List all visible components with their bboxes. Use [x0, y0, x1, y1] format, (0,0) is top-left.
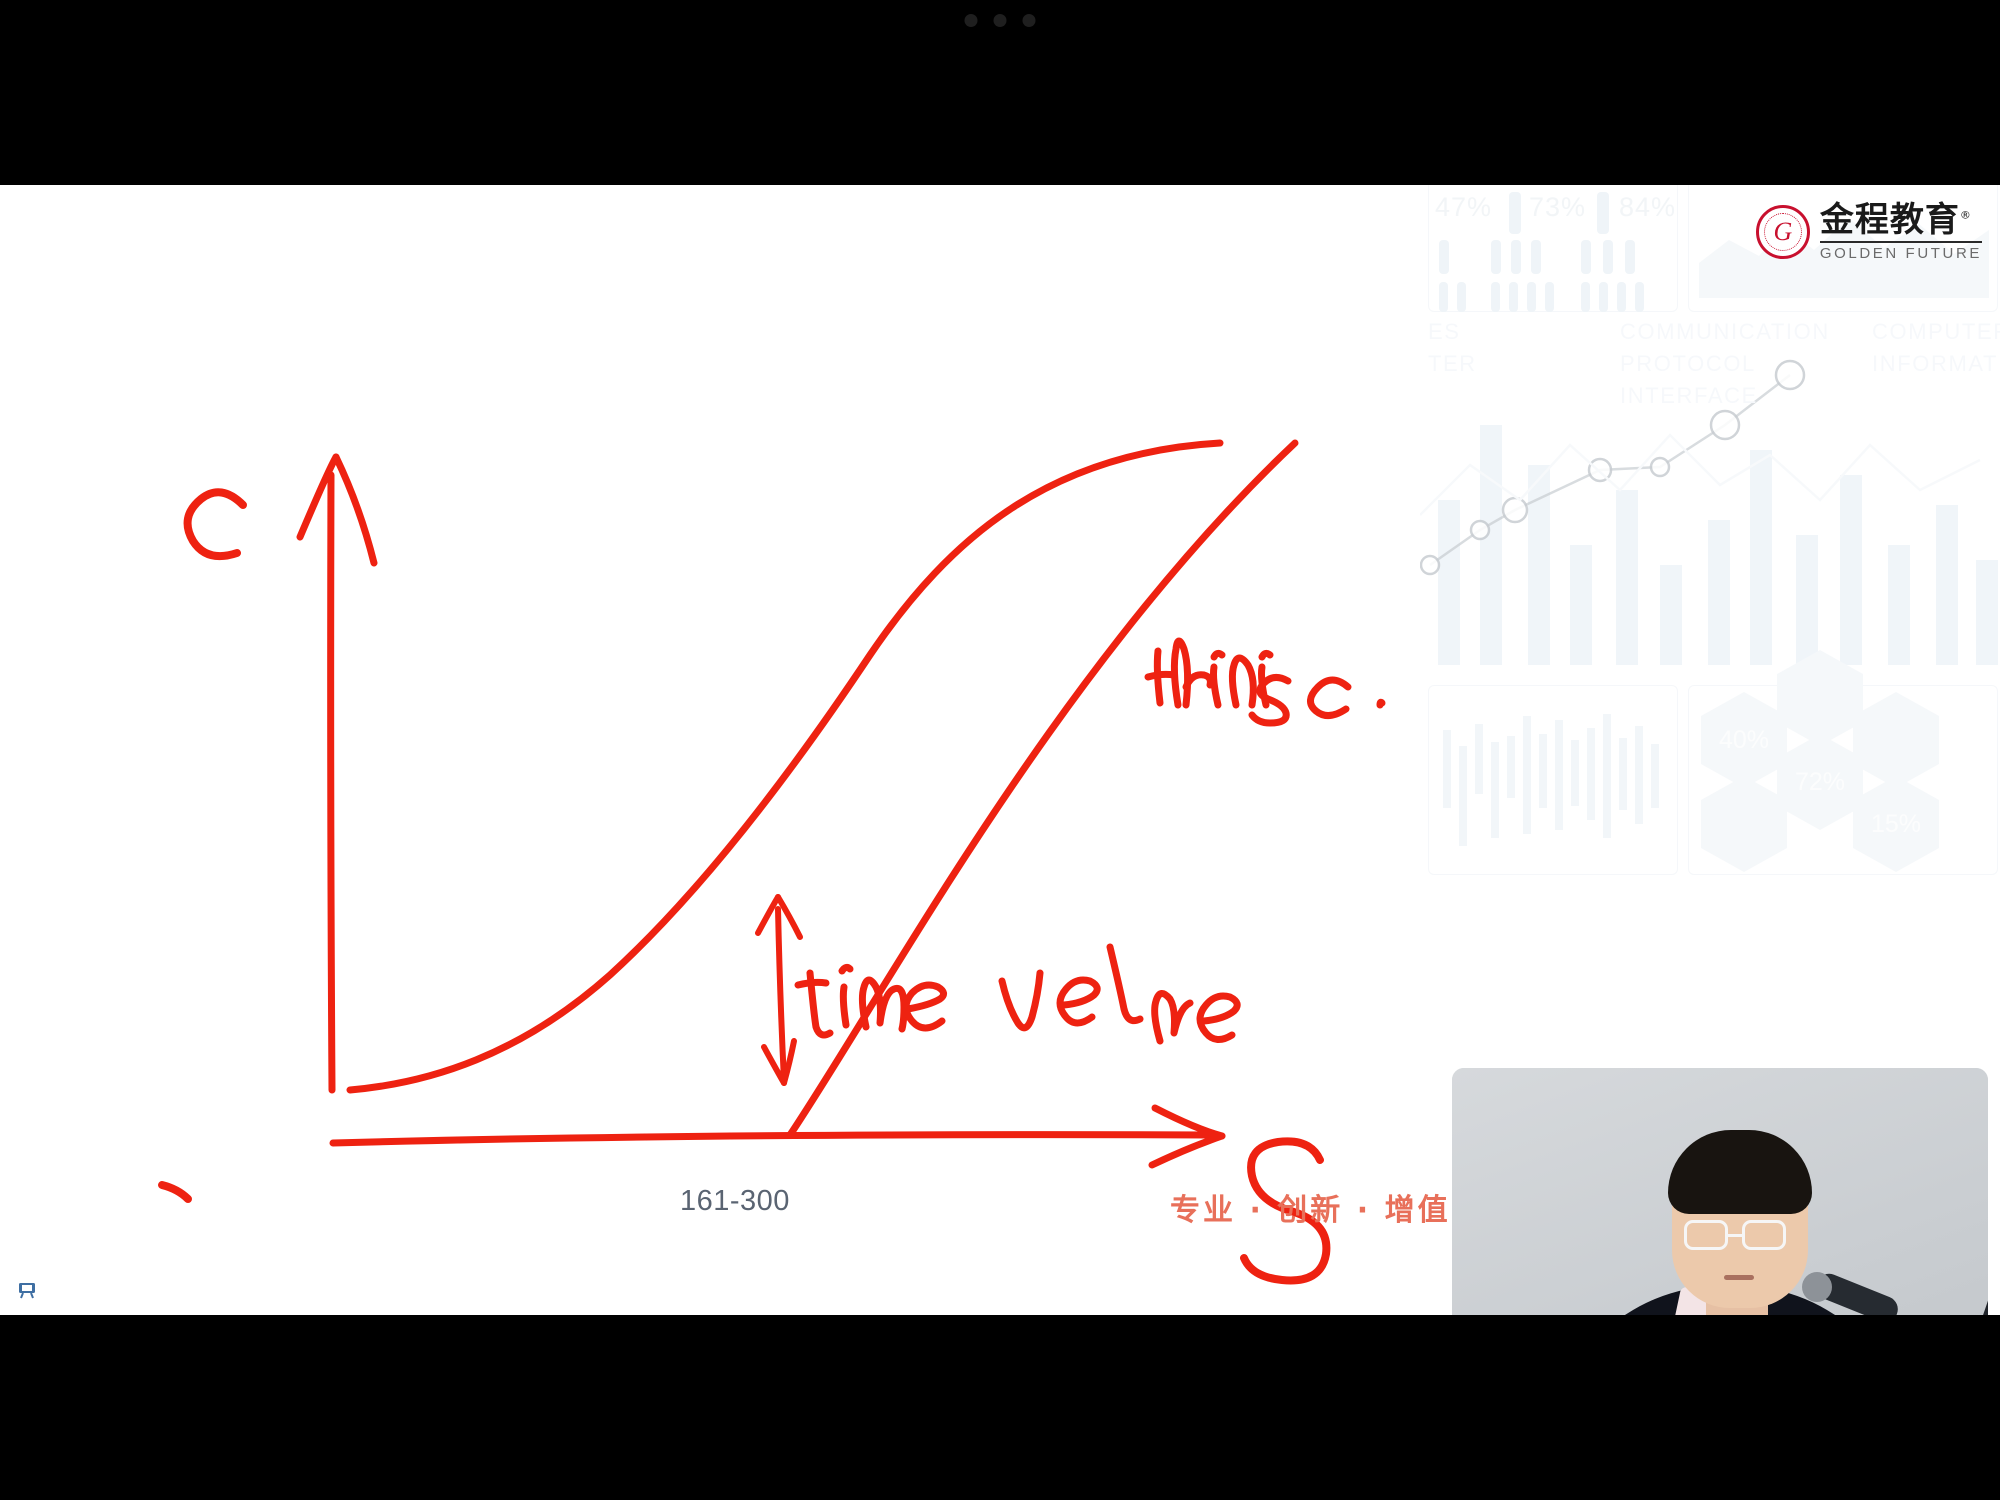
person-icon — [1599, 282, 1608, 312]
candle — [1539, 734, 1547, 808]
microphone-capsule — [1802, 1272, 1832, 1302]
hex-decor — [1701, 776, 1787, 872]
screen-recording-frame: 47% 73% 84% — [0, 0, 2000, 1500]
y-axis-label-c — [188, 492, 243, 556]
candle — [1635, 726, 1643, 824]
registered-mark: ® — [1960, 209, 1972, 222]
x-axis-stroke — [333, 1135, 1210, 1143]
infographic-keywords: ES TER COMMUNICATION PROTOCOL INTERFACE … — [1420, 315, 2000, 565]
person-icon — [1491, 240, 1501, 274]
person-icon — [1635, 282, 1644, 312]
brand-logo: G 金程教育® GOLDEN FUTURE — [1756, 203, 1982, 261]
person-icon — [1545, 282, 1554, 312]
candle — [1571, 740, 1579, 806]
person-icon — [1597, 192, 1609, 234]
candle — [1443, 730, 1451, 808]
keyword-5: COMPUTER — [1872, 319, 2000, 345]
window-dot-2 — [994, 14, 1007, 27]
intrinsic-handwriting — [1148, 641, 1382, 723]
person-icon — [1457, 282, 1466, 312]
person-icon — [1531, 240, 1541, 274]
seal-icon: G — [1756, 205, 1810, 259]
x-axis-arrow-bottom — [1152, 1136, 1222, 1165]
time-value-arrow — [758, 897, 800, 1083]
keyword-6: INFORMATION — [1872, 351, 2000, 377]
brand-name-cn: 金程教育® — [1820, 203, 1982, 237]
stray-ink-mark — [162, 1185, 188, 1199]
person-icon — [1439, 282, 1448, 312]
candle — [1651, 744, 1659, 808]
candle — [1523, 716, 1531, 834]
window-dot-1 — [965, 14, 978, 27]
glasses-right-lens — [1742, 1220, 1786, 1250]
infographic-candlestick-panel — [1428, 685, 1678, 875]
people-stat-1: 73% — [1529, 192, 1586, 223]
glasses-bridge — [1728, 1234, 1742, 1237]
candle — [1555, 720, 1563, 830]
person-icon — [1527, 282, 1536, 312]
presentation-slide: 47% 73% 84% — [0, 185, 2000, 1315]
window-dot-3 — [1023, 14, 1036, 27]
person-icon — [1625, 240, 1635, 274]
instructor-webcam[interactable] — [1452, 1068, 1988, 1315]
person-icon — [1439, 240, 1449, 274]
keyword-2: COMMUNICATION — [1620, 319, 1830, 345]
video-bottom-letterbox — [0, 1315, 2000, 1500]
candle — [1475, 724, 1483, 794]
candle — [1603, 714, 1611, 838]
person-icon — [1581, 282, 1590, 312]
person-icon — [1603, 240, 1613, 274]
window-dots[interactable] — [965, 14, 1036, 27]
candle — [1459, 746, 1467, 846]
keyword-1: TER — [1428, 351, 1477, 377]
x-axis-arrow-top — [1155, 1108, 1222, 1136]
video-top-letterbox — [0, 0, 2000, 185]
person-icon — [1511, 240, 1521, 274]
person-icon — [1617, 282, 1626, 312]
brand-name-en: GOLDEN FUTURE — [1820, 241, 1982, 261]
candle — [1507, 736, 1515, 798]
y-axis-stroke — [331, 475, 332, 1090]
hex-stat-0: 40% — [1701, 692, 1787, 788]
hex-decor — [1853, 692, 1939, 788]
y-axis-arrow-left — [300, 457, 336, 537]
infographic-hexagon-panel: 40% 72% 15% — [1688, 685, 1998, 875]
seal-glyph: G — [1759, 217, 1807, 247]
candle — [1491, 742, 1499, 838]
intrinsic-line — [790, 443, 1295, 1135]
person-icon — [1509, 282, 1518, 312]
people-stat-2: 84% — [1619, 192, 1676, 223]
glasses-left-lens — [1684, 1220, 1728, 1250]
keyword-0: ES — [1428, 319, 1461, 345]
presentation-marker-icon[interactable] — [17, 1282, 37, 1300]
infographic-people-panel: 47% 73% 84% — [1428, 185, 1678, 312]
background-infographic: 47% 73% 84% — [1420, 185, 2000, 875]
person-icon — [1491, 282, 1500, 312]
hex-stat-2: 15% — [1853, 776, 1939, 872]
hex-stat-1: 72% — [1777, 734, 1863, 830]
page-number: 161-300 — [680, 1185, 790, 1218]
time-value-handwriting — [798, 947, 1237, 1041]
candle — [1619, 738, 1627, 810]
people-stat-0: 47% — [1435, 192, 1492, 223]
person-icon — [1581, 240, 1591, 274]
option-value-curve — [350, 443, 1220, 1090]
brand-slogan: 专业 · 创新 · 增值 — [1170, 1185, 1451, 1229]
person-mouth — [1724, 1275, 1754, 1280]
keyword-4: INTERFACE — [1620, 383, 1758, 409]
person-icon — [1509, 192, 1521, 234]
keyword-3: PROTOCOL — [1620, 351, 1756, 377]
y-axis-arrow-right — [336, 457, 374, 563]
candle — [1587, 728, 1595, 820]
